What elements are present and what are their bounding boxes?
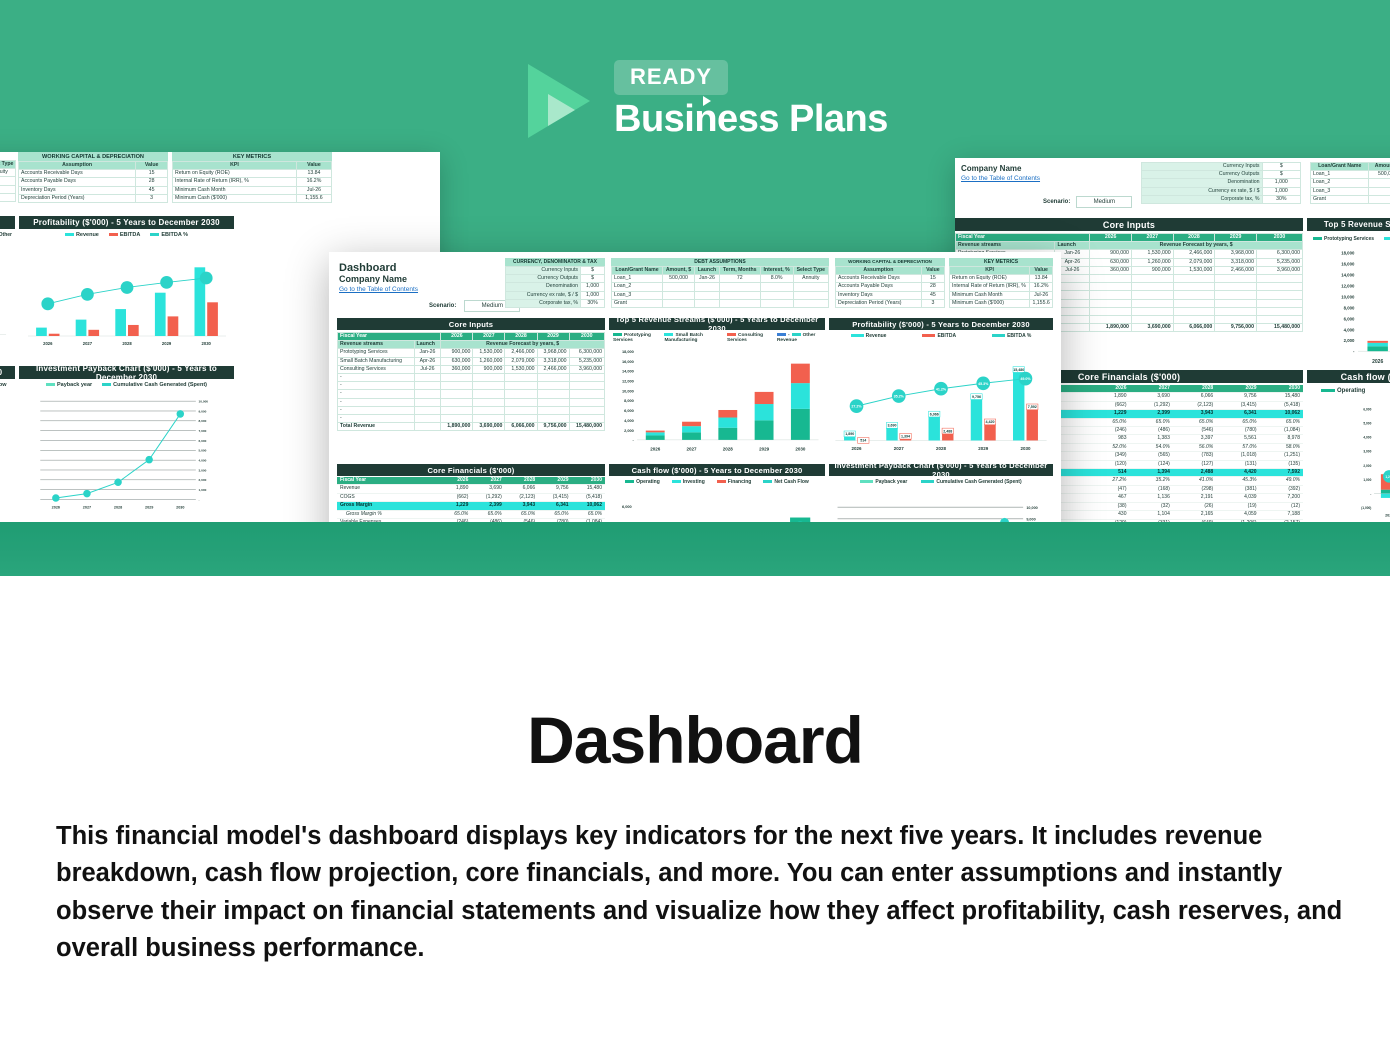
table-cell: Minimum Cash ($'000) bbox=[950, 299, 1030, 307]
column-header: Amount, $ bbox=[662, 267, 694, 275]
empty-cell bbox=[414, 390, 441, 398]
table-row: Grant bbox=[0, 193, 16, 201]
row-value: 514 bbox=[1089, 469, 1129, 477]
row-value: (1,084) bbox=[1260, 427, 1303, 435]
row-value: 1,890 bbox=[441, 485, 472, 493]
year-header: 2029 bbox=[1215, 234, 1257, 242]
row-value: 467 bbox=[1089, 494, 1129, 502]
debt-table-right: Loan/Grant NameAmount, $LaunchTerm, Mont… bbox=[1310, 162, 1390, 204]
table-cell: Accounts Receivable Days bbox=[19, 170, 136, 178]
core-inputs-title: Core Inputs bbox=[337, 318, 605, 330]
table-row: Corporate tax, %30% bbox=[1142, 195, 1301, 203]
table-cell bbox=[1369, 195, 1390, 203]
empty-cell bbox=[1131, 316, 1173, 324]
empty-cell bbox=[1256, 275, 1302, 283]
debt-block-title: DEBT ASSUMPTIONS bbox=[611, 258, 829, 266]
table-cell: 3 bbox=[136, 194, 168, 202]
empty-cell bbox=[569, 374, 604, 382]
chart-cashflow-right: (1,000)-1,0002,0003,0004,0005,0006,00020… bbox=[1311, 402, 1390, 520]
svg-text:18,000: 18,000 bbox=[1341, 251, 1355, 256]
svg-text:45.3%: 45.3% bbox=[978, 382, 989, 386]
empty-cell bbox=[473, 390, 505, 398]
forecast-value: 2,466,000 bbox=[505, 349, 537, 357]
kpi-block-title: KEY METRICS bbox=[949, 258, 1053, 266]
forecast-value: 2,466,000 bbox=[1173, 250, 1215, 258]
svg-text:7,000: 7,000 bbox=[199, 429, 207, 433]
empty-cell bbox=[569, 406, 604, 414]
row-value: (168) bbox=[1130, 485, 1173, 493]
empty-cell: - bbox=[338, 390, 415, 398]
fiscal-year-label: Fiscal Year bbox=[956, 234, 1090, 242]
forecast-value: 5,235,000 bbox=[1256, 258, 1302, 266]
svg-text:18,000: 18,000 bbox=[622, 349, 634, 354]
scenario-select-right[interactable]: Medium bbox=[1076, 196, 1132, 208]
row-value: 65.0% bbox=[1260, 418, 1303, 426]
table-row: Gross Margin %65.0%65.0%65.0%65.0%65.0% bbox=[337, 510, 605, 518]
row-value: (3,415) bbox=[1216, 401, 1259, 409]
total-value: 1,890,000 bbox=[441, 423, 473, 431]
table-row: Inventory Days45 bbox=[836, 291, 945, 299]
empty-cell bbox=[1131, 275, 1173, 283]
column-header: Value bbox=[296, 162, 331, 170]
row-value: (349) bbox=[1089, 452, 1129, 460]
row-value: 52.0% bbox=[1089, 443, 1129, 451]
table-row: Minimum Cash ($'000)1,155.6 bbox=[173, 194, 332, 202]
table-row: Consulting ServicesJul-26360,000900,0001… bbox=[338, 365, 605, 373]
svg-text:5,000: 5,000 bbox=[1363, 422, 1371, 426]
forecast-value: 5,235,000 bbox=[569, 357, 604, 365]
row-value: 6,341 bbox=[1216, 410, 1259, 418]
row-value: (124) bbox=[1130, 460, 1173, 468]
table-cell bbox=[793, 291, 828, 299]
year-header: 2029 bbox=[1216, 385, 1259, 393]
table-cell: Grant bbox=[612, 299, 663, 307]
currency-block-title: CURRENCY, DENOMINATOR & TAX bbox=[505, 258, 605, 266]
wc-table: AssumptionValueAccounts Receivable Days1… bbox=[835, 266, 945, 308]
legend-payback: Payback year Cumulative Cash Generated (… bbox=[829, 479, 1053, 485]
svg-text:2026: 2026 bbox=[1385, 513, 1390, 517]
forecast-value: 1,260,000 bbox=[1131, 258, 1173, 266]
svg-text:10,000: 10,000 bbox=[1341, 294, 1355, 299]
forecast-value: 3,968,000 bbox=[537, 349, 569, 357]
svg-text:7,592: 7,592 bbox=[1028, 405, 1037, 409]
table-row: Accounts Payable Days28 bbox=[19, 178, 168, 186]
forecast-value: 630,000 bbox=[1090, 258, 1132, 266]
wc-table-left: AssumptionValueAccounts Receivable Days1… bbox=[18, 161, 168, 203]
year-header: 2027 bbox=[1131, 234, 1173, 242]
column-header: Interest, % bbox=[760, 267, 793, 275]
row-value: 2,191 bbox=[1173, 494, 1216, 502]
svg-text:10,000: 10,000 bbox=[1026, 506, 1037, 510]
legend-revenue-left: Prototyping Services Small Batch Manufac… bbox=[0, 232, 15, 244]
row-value: 7,188 bbox=[1260, 511, 1303, 519]
year-header: 2028 bbox=[505, 333, 537, 341]
legend-profitability: Revenue EBITDA EBITDA % bbox=[829, 333, 1053, 339]
table-row: Return on Equity (ROE)13.84 bbox=[173, 170, 332, 178]
table-cell: 15 bbox=[921, 275, 944, 283]
empty-cell bbox=[1131, 291, 1173, 299]
chart-title-cash-right: Cash flow ($'000) - 5 Years to December … bbox=[1307, 370, 1390, 383]
row-label: Denomination bbox=[1142, 179, 1263, 187]
empty-cell bbox=[1090, 275, 1132, 283]
row-value: 10,062 bbox=[572, 502, 605, 510]
empty-cell bbox=[569, 390, 604, 398]
empty-cell bbox=[537, 374, 569, 382]
table-cell: Internal Rate of Return (IRR), % bbox=[173, 178, 297, 186]
empty-cell bbox=[414, 382, 441, 390]
table-cell: Inventory Days bbox=[836, 291, 922, 299]
row-value: 65.0% bbox=[538, 510, 571, 518]
row-value: 41.0% bbox=[1173, 477, 1216, 485]
svg-text:2030: 2030 bbox=[795, 447, 806, 452]
empty-cell: - bbox=[338, 406, 415, 414]
table-row: Grant bbox=[1311, 195, 1390, 203]
svg-text:2026: 2026 bbox=[52, 505, 60, 509]
wc-title-left: WORKING CAPITAL & DEPRECIATION bbox=[18, 152, 168, 161]
forecast-value: 3,318,000 bbox=[537, 357, 569, 365]
svg-text:-: - bbox=[1353, 349, 1355, 354]
year-header: 2029 bbox=[537, 333, 569, 341]
table-cell: Return on Equity (ROE) bbox=[950, 275, 1030, 283]
row-label: Currency Inputs bbox=[506, 267, 581, 275]
empty-cell bbox=[537, 390, 569, 398]
row-value: (1,292) bbox=[471, 493, 504, 501]
legend-cash-flow: Operating Investing Financing Net Cash F… bbox=[609, 479, 825, 485]
empty-cell bbox=[1215, 316, 1257, 324]
empty-cell bbox=[1215, 307, 1257, 315]
chart-title-cash-flow: Cash flow ($'000) - 5 Years to December … bbox=[609, 464, 825, 476]
table-row: Currency ex rate, $ / $1,000 bbox=[1142, 187, 1301, 195]
svg-text:1,211: 1,211 bbox=[1385, 475, 1390, 479]
row-value: 3,397 bbox=[1173, 435, 1216, 443]
row-label: Currency ex rate, $ / $ bbox=[506, 291, 581, 299]
svg-text:-: - bbox=[1370, 492, 1371, 496]
forecast-value: 3,968,000 bbox=[1215, 250, 1257, 258]
svg-text:2026: 2026 bbox=[43, 341, 53, 346]
table-cell: 8.0% bbox=[760, 275, 793, 283]
row-value: (3,415) bbox=[538, 493, 571, 501]
forecast-value: 6,300,000 bbox=[569, 349, 604, 357]
table-cell bbox=[1369, 187, 1390, 195]
brand-badge: READY bbox=[614, 60, 728, 95]
row-value: 15,480 bbox=[572, 485, 605, 493]
chart-title-cash-left: Cash flow ($'000) - 5 Years to December … bbox=[0, 366, 15, 379]
table-cell bbox=[0, 177, 16, 185]
chart-title-profit-left: Profitability ($'000) - 5 Years to Decem… bbox=[19, 216, 234, 229]
table-cell: Accounts Payable Days bbox=[836, 283, 922, 291]
row-value: 45.3% bbox=[1216, 477, 1259, 485]
empty-cell: - bbox=[338, 382, 415, 390]
scenario-label: Scenario: bbox=[429, 303, 456, 309]
core-financials-title: Core Financials ($'000) bbox=[337, 464, 605, 476]
svg-text:6,000: 6,000 bbox=[199, 439, 207, 443]
row-value: (565) bbox=[1130, 452, 1173, 460]
row-label: Corporate tax, % bbox=[506, 299, 581, 307]
table-row-empty: - bbox=[338, 406, 605, 414]
fiscal-year-row: Fiscal Year20262027202820292030 bbox=[338, 333, 605, 341]
table-cell: 16.2% bbox=[1030, 283, 1053, 291]
svg-text:14,000: 14,000 bbox=[1341, 273, 1355, 278]
table-row: Loan_2 bbox=[1311, 179, 1390, 187]
svg-text:9,000: 9,000 bbox=[1026, 518, 1035, 522]
table-cell bbox=[695, 291, 720, 299]
total-label: Total Revenue bbox=[338, 423, 415, 431]
forecast-value: 630,000 bbox=[441, 357, 473, 365]
svg-text:2,000: 2,000 bbox=[1363, 464, 1371, 468]
table-cell bbox=[0, 193, 16, 201]
table-row: Internal Rate of Return (IRR), %16.2% bbox=[950, 283, 1053, 291]
empty-cell bbox=[1131, 283, 1173, 291]
launch-header: Launch bbox=[1055, 242, 1090, 250]
row-value: 35.2% bbox=[1130, 477, 1173, 485]
svg-text:1,394: 1,394 bbox=[901, 434, 910, 438]
table-row: Small Batch ManufacturingApr-26630,0001,… bbox=[338, 357, 605, 365]
row-value: (546) bbox=[1173, 427, 1216, 435]
svg-text:41.2%: 41.2% bbox=[936, 387, 947, 391]
table-row: Gross Margin1,2292,3993,9436,34110,062 bbox=[337, 502, 605, 510]
svg-text:10,000: 10,000 bbox=[622, 388, 634, 393]
row-value: (392) bbox=[1260, 485, 1303, 493]
table-cell: Annuity bbox=[0, 169, 16, 177]
svg-text:6,066: 6,066 bbox=[930, 412, 939, 416]
column-header: Value bbox=[136, 162, 168, 170]
stream-header: Revenue streams bbox=[956, 242, 1055, 250]
row-value: 9,756 bbox=[538, 485, 571, 493]
forecast-value: 3,960,000 bbox=[1256, 266, 1302, 274]
svg-text:4,000: 4,000 bbox=[199, 459, 207, 463]
svg-text:16,000: 16,000 bbox=[622, 359, 634, 364]
row-label: Gross Margin bbox=[337, 502, 441, 510]
table-row: Loan_3 bbox=[0, 185, 16, 193]
table-row: Minimum Cash ($'000)1,155.6 bbox=[950, 299, 1053, 307]
fiscal-year-label: Fiscal Year bbox=[338, 333, 441, 341]
empty-cell bbox=[1173, 316, 1215, 324]
dashboard-toc-link[interactable]: Go to the Table of Contents bbox=[339, 286, 418, 293]
empty-cell bbox=[473, 398, 505, 406]
row-label: Currency Outputs bbox=[506, 275, 581, 283]
row-value: 3,943 bbox=[1173, 410, 1216, 418]
empty-cell bbox=[1256, 291, 1302, 299]
year-header: 2028 bbox=[505, 477, 538, 485]
table-cell: Accounts Receivable Days bbox=[836, 275, 922, 283]
row-value: 56.0% bbox=[1173, 443, 1216, 451]
svg-text:2,000: 2,000 bbox=[624, 428, 634, 433]
row-value: 1,383 bbox=[1130, 435, 1173, 443]
forecast-value: 360,000 bbox=[1090, 266, 1132, 274]
table-row: Revenue1,8903,6906,0669,75615,480 bbox=[337, 485, 605, 493]
stream-header: Revenue streams bbox=[338, 341, 415, 349]
year-header: 2026 bbox=[441, 333, 473, 341]
row-label: COGS bbox=[337, 493, 441, 501]
svg-text:16,000: 16,000 bbox=[1341, 262, 1355, 267]
empty-cell bbox=[1173, 275, 1215, 283]
table-cell bbox=[760, 291, 793, 299]
svg-text:2028: 2028 bbox=[936, 446, 946, 451]
row-value: 8,978 bbox=[1260, 435, 1303, 443]
table-row: Denomination1,000 bbox=[506, 283, 605, 291]
empty-cell bbox=[1090, 307, 1132, 315]
toc-link-right[interactable]: Go to the Table of Contents bbox=[961, 175, 1141, 182]
empty-cell bbox=[1173, 307, 1215, 315]
dashboard-company: Company Name bbox=[339, 274, 418, 284]
table-row: Loan_2 bbox=[0, 177, 16, 185]
empty-cell bbox=[569, 382, 604, 390]
chart-revenue-streams: -2,0004,0006,0008,00010,00012,00014,0001… bbox=[609, 342, 825, 460]
empty-cell bbox=[1173, 291, 1215, 299]
svg-text:4,000: 4,000 bbox=[1344, 327, 1355, 332]
svg-text:2026: 2026 bbox=[1372, 359, 1383, 365]
svg-text:2030: 2030 bbox=[176, 505, 184, 509]
row-label: Currency Inputs bbox=[1142, 163, 1263, 171]
forecast-value: 1,530,000 bbox=[1131, 250, 1173, 258]
table-cell: 13.84 bbox=[296, 170, 331, 178]
year-header: 2026 bbox=[441, 477, 472, 485]
svg-text:8,000: 8,000 bbox=[1344, 305, 1355, 310]
table-row: Currency Outputs$ bbox=[506, 275, 605, 283]
table-cell: Internal Rate of Return (IRR), % bbox=[950, 283, 1030, 291]
row-value: (780) bbox=[1216, 427, 1259, 435]
row-value: (662) bbox=[441, 493, 472, 501]
empty-cell bbox=[505, 390, 537, 398]
empty-cell bbox=[505, 398, 537, 406]
table-header-row: AssumptionValue bbox=[836, 267, 945, 275]
svg-text:3,690: 3,690 bbox=[887, 424, 896, 428]
row-value: (783) bbox=[1173, 452, 1216, 460]
row-value: 1,000 bbox=[581, 291, 605, 299]
table-row: Minimum Cash MonthJul-26 bbox=[950, 291, 1053, 299]
row-value: $ bbox=[581, 275, 605, 283]
table-row: Loan_3 bbox=[612, 291, 829, 299]
table-cell: 28 bbox=[136, 178, 168, 186]
table-cell: Depreciation Period (Years) bbox=[836, 299, 922, 307]
year-header: 2026 bbox=[1090, 234, 1132, 242]
column-header: Assumption bbox=[836, 267, 922, 275]
core-inputs-title-right: Core Inputs bbox=[955, 218, 1303, 231]
wc-block-title: WORKING CAPITAL & DEPRECIATION bbox=[835, 258, 945, 266]
table-row: Grant bbox=[612, 299, 829, 307]
table-row-empty: - bbox=[338, 382, 605, 390]
year-header: 2030 bbox=[1256, 234, 1302, 242]
legend-cash-left: Operating Investing Financing Net Cash F… bbox=[0, 382, 15, 388]
svg-text:3,000: 3,000 bbox=[1363, 450, 1371, 454]
chart-revenue-right: -2,0004,0006,0008,00010,00012,00014,0001… bbox=[1311, 248, 1390, 368]
table-cell bbox=[760, 299, 793, 307]
total-value: 6,066,000 bbox=[1173, 324, 1215, 332]
column-header: Loan/Grant Name bbox=[612, 267, 663, 275]
column-header: Value bbox=[921, 267, 944, 275]
fiscal-year-row: Fiscal Year20262027202820292030 bbox=[956, 234, 1303, 242]
table-row-empty: - bbox=[338, 374, 605, 382]
row-label: Gross Margin % bbox=[337, 510, 441, 518]
table-cell: Annuity bbox=[793, 275, 828, 283]
svg-text:2027: 2027 bbox=[83, 341, 93, 346]
row-value: 1,136 bbox=[1130, 494, 1173, 502]
row-value: $ bbox=[1262, 171, 1300, 179]
table-cell: Jan-26 bbox=[695, 275, 720, 283]
row-value: 30% bbox=[581, 299, 605, 307]
company-name-right: Company Name bbox=[961, 164, 1141, 173]
debt-table: Loan/Grant NameAmount, $LaunchTerm, Mont… bbox=[611, 266, 829, 308]
empty-cell bbox=[1215, 275, 1257, 283]
table-cell bbox=[719, 299, 760, 307]
row-value: 65.0% bbox=[471, 510, 504, 518]
table-row: Accounts Receivable Days15 bbox=[19, 170, 168, 178]
table-cell: Return on Equity (ROE) bbox=[173, 170, 297, 178]
empty-cell bbox=[569, 415, 604, 423]
empty-cell bbox=[1173, 283, 1215, 291]
row-value: 3,690 bbox=[1130, 393, 1173, 401]
svg-text:35.2%: 35.2% bbox=[894, 395, 905, 399]
row-value: 7,592 bbox=[1260, 469, 1303, 477]
row-label: Denomination bbox=[506, 283, 581, 291]
empty-cell bbox=[505, 382, 537, 390]
svg-text:-: - bbox=[199, 498, 200, 502]
empty-cell bbox=[473, 382, 505, 390]
column-header: Select Type bbox=[793, 267, 828, 275]
total-value: 3,690,000 bbox=[473, 423, 505, 431]
svg-text:2027: 2027 bbox=[894, 446, 904, 451]
svg-text:9,000: 9,000 bbox=[199, 409, 207, 413]
empty-cell: - bbox=[338, 415, 415, 423]
svg-text:3,000: 3,000 bbox=[199, 468, 207, 472]
row-value: 2,399 bbox=[471, 502, 504, 510]
column-header: Assumption bbox=[19, 162, 136, 170]
table-cell: 1,155.6 bbox=[296, 194, 331, 202]
table-row: Currency ex rate, $ / $1,000 bbox=[506, 291, 605, 299]
empty-cell bbox=[1131, 299, 1173, 307]
year-header: 2028 bbox=[1173, 234, 1215, 242]
empty-cell bbox=[1090, 299, 1132, 307]
forecast-value: 2,079,000 bbox=[1173, 258, 1215, 266]
svg-text:9,756: 9,756 bbox=[972, 395, 981, 399]
empty-cell bbox=[414, 415, 441, 423]
row-value: 4,059 bbox=[1216, 511, 1259, 519]
row-value: 3,690 bbox=[471, 485, 504, 493]
table-cell: Jul-26 bbox=[1030, 291, 1053, 299]
currency-table: Currency Inputs$Currency Outputs$Denomin… bbox=[505, 266, 605, 308]
table-cell bbox=[662, 283, 694, 291]
spacer-cell bbox=[414, 423, 441, 431]
column-header: Select Type bbox=[0, 161, 16, 169]
svg-text:49.0%: 49.0% bbox=[1020, 377, 1031, 381]
row-value: $ bbox=[1262, 163, 1300, 171]
year-header: 2030 bbox=[569, 333, 604, 341]
row-value: (12) bbox=[1260, 502, 1303, 510]
table-row: Depreciation Period (Years)3 bbox=[19, 194, 168, 202]
forecast-value: 900,000 bbox=[441, 349, 473, 357]
table-row: Denomination1,000 bbox=[1142, 179, 1301, 187]
table-cell: Depreciation Period (Years) bbox=[19, 194, 136, 202]
svg-text:4,000: 4,000 bbox=[1363, 436, 1371, 440]
table-row: COGS(662)(1,292)(2,123)(3,415)(5,418) bbox=[337, 493, 605, 501]
total-value: 1,890,000 bbox=[1090, 324, 1132, 332]
empty-cell bbox=[1256, 299, 1302, 307]
svg-text:2026: 2026 bbox=[650, 447, 661, 452]
row-value: 1,229 bbox=[441, 502, 472, 510]
kpi-title-left: KEY METRICS bbox=[172, 152, 332, 161]
total-value: 6,066,000 bbox=[505, 423, 537, 431]
row-value: 6,066 bbox=[1173, 393, 1216, 401]
table-cell: Minimum Cash Month bbox=[173, 186, 297, 194]
legend-payback-left: Payback year Cumulative Cash Generated (… bbox=[19, 382, 234, 388]
forecast-value: 1,260,000 bbox=[473, 357, 505, 365]
year-header: 2030 bbox=[572, 477, 605, 485]
table-row: Depreciation Period (Years)3 bbox=[836, 299, 945, 307]
row-value: (135) bbox=[1260, 460, 1303, 468]
svg-text:8,000: 8,000 bbox=[199, 419, 207, 423]
svg-text:2,000: 2,000 bbox=[199, 478, 207, 482]
empty-cell bbox=[414, 374, 441, 382]
